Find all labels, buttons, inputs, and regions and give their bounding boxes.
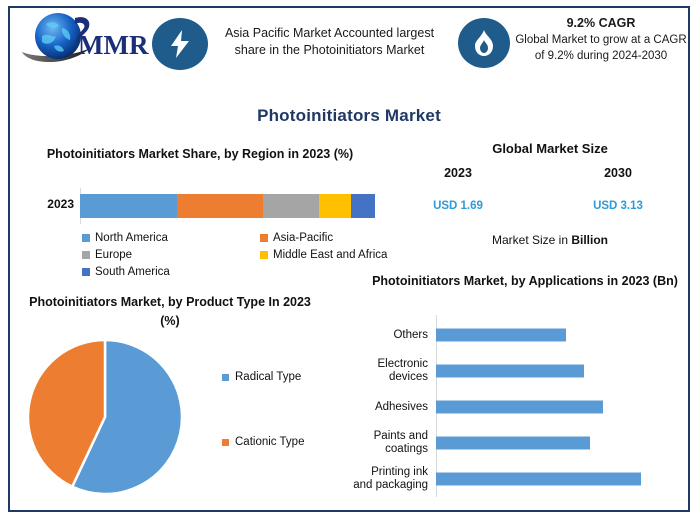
cagr-value: 9.2% CAGR (512, 15, 690, 31)
legend-item-north-america: North America (82, 232, 260, 244)
applications-bar-label: Others (352, 329, 432, 342)
legend-label: Middle East and Africa (273, 249, 387, 261)
stacked-bar-segment (319, 194, 351, 218)
legend-label: Europe (95, 249, 132, 261)
unit-bold: Billion (571, 233, 608, 247)
applications-bar-row: Paints and coatings (352, 425, 692, 461)
applications-chart-title: Photoinitiators Market, by Applications … (352, 272, 698, 290)
market-size-year-2030: 2030 (578, 166, 658, 180)
market-size-unit-note: Market Size in Billion (420, 233, 680, 247)
pie-legend-item-radical-type: Radical Type (222, 371, 301, 383)
cagr-description: Global Market to grow at a CAGR of 9.2% … (515, 34, 686, 62)
legend-item-asia-pacific: Asia-Pacific (260, 232, 333, 244)
applications-bar-row: Electronic devices (352, 353, 692, 389)
lightning-bolt-icon (152, 18, 208, 70)
stacked-bar-segment (177, 194, 263, 218)
legend-swatch-icon (222, 439, 229, 446)
applications-bar-label: Adhesives (352, 401, 432, 414)
mmr-logo: MMR (18, 8, 150, 72)
applications-bar-label: Electronic devices (352, 358, 432, 384)
legend-label: Radical Type (235, 371, 301, 383)
applications-bar-row: Adhesives (352, 389, 692, 425)
applications-bar-label: Paints and coatings (352, 430, 432, 456)
infographic-page: MMR Asia Pacific Market Accounted larges… (0, 0, 698, 521)
applications-bar-row: Others (352, 317, 692, 353)
global-market-size-title: Global Market Size (420, 141, 680, 156)
legend-swatch-icon (222, 374, 229, 381)
region-chart-category-label: 2023 (26, 197, 74, 211)
legend-label: South America (95, 266, 170, 278)
region-stacked-bar (80, 194, 375, 218)
legend-label: North America (95, 232, 168, 244)
applications-bar-row: Printing ink and packaging (352, 461, 692, 497)
legend-label: Asia-Pacific (273, 232, 333, 244)
applications-bar-track (432, 461, 692, 497)
legend-swatch-icon (82, 234, 90, 242)
legend-item-south-america: South America (82, 266, 260, 278)
legend-swatch-icon (260, 234, 268, 242)
applications-bar-track (432, 389, 692, 425)
applications-bar (436, 365, 584, 378)
applications-bar-track (432, 317, 692, 353)
legend-label: Cationic Type (235, 436, 304, 448)
applications-bar-label: Printing ink and packaging (352, 466, 432, 492)
asia-pacific-callout: Asia Pacific Market Accounted largest sh… (212, 25, 447, 59)
stacked-bar-segment (263, 194, 319, 218)
applications-bar-chart: OthersElectronic devicesAdhesivesPaints … (352, 315, 692, 507)
applications-bar (436, 401, 603, 414)
pie-legend-item-cationic-type: Cationic Type (222, 436, 304, 448)
mmr-logo-text: MMR (78, 30, 149, 60)
flame-icon (458, 18, 510, 68)
region-chart-title: Photoinitiators Market Share, by Region … (40, 145, 360, 164)
product-type-pie-chart (27, 339, 183, 495)
stacked-bar-segment (80, 194, 177, 218)
page-title: Photoinitiators Market (0, 106, 698, 126)
market-size-value-2030: USD 3.13 (572, 200, 664, 212)
legend-swatch-icon (82, 251, 90, 259)
pie-chart-title: Photoinitiators Market, by Product Type … (20, 293, 320, 331)
legend-item-middle-east-and-africa: Middle East and Africa (260, 249, 387, 261)
market-size-year-2023: 2023 (418, 166, 498, 180)
cagr-callout: 9.2% CAGR Global Market to grow at a CAG… (512, 15, 690, 64)
legend-item-europe: Europe (82, 249, 260, 261)
legend-swatch-icon (260, 251, 268, 259)
applications-bar-track (432, 425, 692, 461)
applications-bar-track (432, 353, 692, 389)
stacked-bar-segment (351, 194, 375, 218)
market-size-value-2023: USD 1.69 (412, 200, 504, 212)
applications-bar (436, 437, 590, 450)
legend-swatch-icon (82, 268, 90, 276)
unit-prefix: Market Size in (492, 233, 571, 247)
applications-bar (436, 329, 566, 342)
applications-bar (436, 473, 641, 486)
